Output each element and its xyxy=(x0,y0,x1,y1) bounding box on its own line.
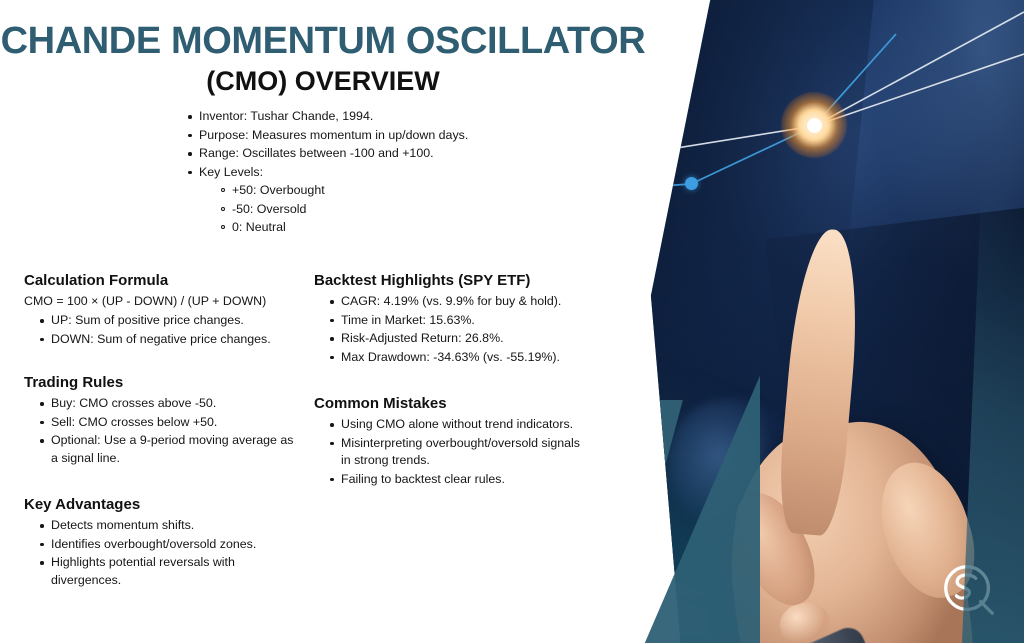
list-item: Time in Market: 15.63%. xyxy=(330,312,582,330)
intro-block: Inventor: Tushar Chande, 1994. Purpose: … xyxy=(172,108,592,238)
list-item: Risk-Adjusted Return: 26.8%. xyxy=(330,330,582,348)
list-item: Using CMO alone without trend indicators… xyxy=(330,416,582,434)
list-item: Highlights potential reversals with dive… xyxy=(40,554,302,589)
key-levels-list: +50: Overbought -50: Oversold 0: Neutral xyxy=(199,182,592,237)
list-item: Purpose: Measures momentum in up/down da… xyxy=(188,127,592,145)
network-node-dot xyxy=(685,177,698,190)
page-title: CHANDE MOMENTUM OSCILLATOR (CMO) OVERVIE… xyxy=(0,22,646,97)
list-item: -50: Oversold xyxy=(221,201,592,219)
section-common-mistakes: Common Mistakes Using CMO alone without … xyxy=(314,395,582,489)
section-calculation-formula: Calculation Formula CMO = 100 × (UP - DO… xyxy=(24,272,302,349)
list-item: Range: Oscillates between -100 and +100. xyxy=(188,145,592,163)
section-trading-rules: Trading Rules Buy: CMO crosses above -50… xyxy=(24,374,302,468)
backtest-list: CAGR: 4.19% (vs. 9.9% for buy & hold). T… xyxy=(314,293,582,366)
list-item: Misinterpreting overbought/oversold sign… xyxy=(330,435,582,470)
common-mistakes-list: Using CMO alone without trend indicators… xyxy=(314,416,582,488)
section-backtest-highlights: Backtest Highlights (SPY ETF) CAGR: 4.19… xyxy=(314,272,582,367)
title-sub-rest: OVERVIEW xyxy=(287,66,440,96)
glow-core-node xyxy=(807,118,822,133)
title-sub-paren: (CMO) xyxy=(206,66,287,96)
list-item: CAGR: 4.19% (vs. 9.9% for buy & hold). xyxy=(330,293,582,311)
formula-text: CMO = 100 × (UP - DOWN) / (UP + DOWN) xyxy=(24,293,302,310)
section-key-advantages: Key Advantages Detects momentum shifts. … xyxy=(24,496,302,590)
section-heading: Calculation Formula xyxy=(24,272,302,290)
list-item: Identifies overbought/oversold zones. xyxy=(40,536,302,554)
list-item: Max Drawdown: -34.63% (vs. -55.19%). xyxy=(330,349,582,367)
list-item: Sell: CMO crosses below +50. xyxy=(40,414,302,432)
key-levels-label: Key Levels: xyxy=(199,165,263,179)
list-item: Inventor: Tushar Chande, 1994. xyxy=(188,108,592,126)
list-item: +50: Overbought xyxy=(221,182,592,200)
calculation-list: UP: Sum of positive price changes. DOWN:… xyxy=(24,312,302,348)
list-item: DOWN: Sum of negative price changes. xyxy=(40,331,302,349)
section-heading: Common Mistakes xyxy=(314,395,582,413)
title-sub: (CMO) OVERVIEW xyxy=(0,65,646,97)
title-main: CHANDE MOMENTUM OSCILLATOR xyxy=(0,22,646,62)
list-item: 0: Neutral xyxy=(221,219,592,237)
section-heading: Key Advantages xyxy=(24,496,302,514)
list-item: Detects momentum shifts. xyxy=(40,517,302,535)
intro-list: Inventor: Tushar Chande, 1994. Purpose: … xyxy=(172,108,592,237)
trading-rules-list: Buy: CMO crosses above -50. Sell: CMO cr… xyxy=(24,395,302,467)
list-item: Optional: Use a 9-period moving average … xyxy=(40,432,302,467)
infographic-poster: CHANDE MOMENTUM OSCILLATOR (CMO) OVERVIE… xyxy=(0,0,1024,643)
hero-photo xyxy=(600,0,1024,643)
list-item: UP: Sum of positive price changes. xyxy=(40,312,302,330)
list-item: Failing to backtest clear rules. xyxy=(330,471,582,489)
section-heading: Trading Rules xyxy=(24,374,302,392)
key-advantages-list: Detects momentum shifts. Identifies over… xyxy=(24,517,302,589)
list-item: Key Levels: +50: Overbought -50: Oversol… xyxy=(188,164,592,237)
list-item: Buy: CMO crosses above -50. xyxy=(40,395,302,413)
section-heading: Backtest Highlights (SPY ETF) xyxy=(314,272,582,290)
